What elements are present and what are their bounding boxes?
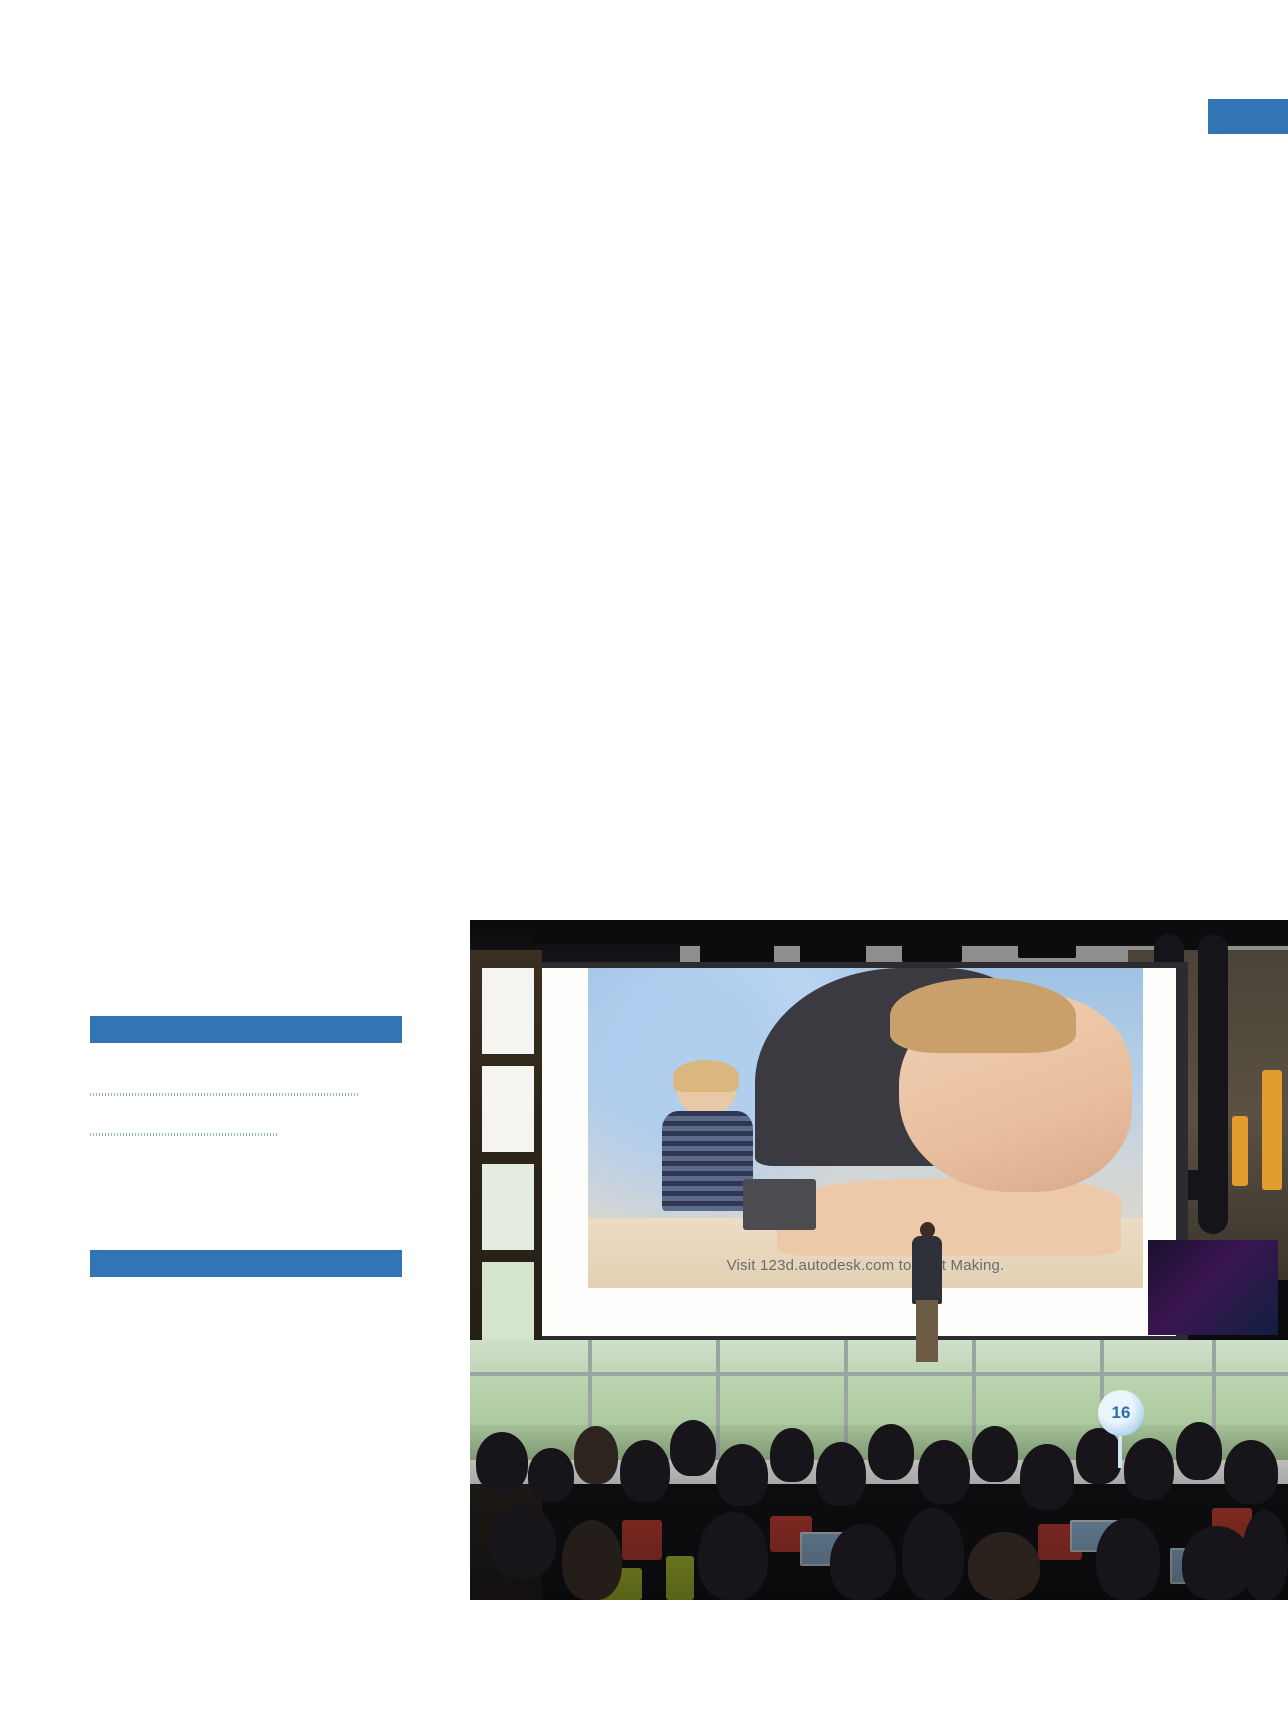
audience-head (968, 1532, 1040, 1600)
left-editorial-column (90, 1000, 402, 1300)
audience-head (670, 1420, 716, 1476)
window-pane (482, 1066, 534, 1152)
leader-line-1 (90, 1092, 360, 1097)
audience-head (620, 1440, 670, 1502)
audience-head (1242, 1510, 1288, 1600)
slide-child-striped-shirt (662, 1111, 753, 1211)
table-sign-stick (1118, 1434, 1122, 1468)
audience-head (918, 1440, 970, 1504)
audience-head (1176, 1422, 1222, 1480)
heading-bar-primary (90, 1016, 402, 1043)
document-page: Visit 123d.autodesk.com to start Making. (0, 0, 1288, 1733)
audience-head (902, 1508, 964, 1600)
audience-head (770, 1428, 814, 1482)
projected-slide: Visit 123d.autodesk.com to start Making. (588, 968, 1143, 1288)
table-number-badge: 16 (1098, 1390, 1144, 1436)
audience-head (716, 1444, 768, 1506)
window-pane (482, 968, 534, 1054)
leader-line-2 (90, 1132, 278, 1137)
presenter-body (912, 1236, 942, 1304)
audience-head (1224, 1440, 1278, 1504)
amber-light-spot (1232, 1116, 1248, 1186)
event-poster (1148, 1240, 1278, 1335)
window-transom (470, 1372, 1288, 1376)
slide-child-hair (673, 1060, 739, 1092)
audience-head (1124, 1438, 1174, 1500)
slide-caption-text: Visit 123d.autodesk.com to start Making. (588, 1257, 1143, 1274)
conference-keynote-photo: Visit 123d.autodesk.com to start Making. (470, 920, 1288, 1600)
audience-head (1076, 1428, 1122, 1484)
audience-head (698, 1512, 768, 1600)
heading-bar-secondary (90, 1250, 402, 1277)
slide-child-resting (899, 994, 1132, 1192)
window-pane (482, 1262, 534, 1348)
audience-head (490, 1506, 556, 1578)
audience-head (476, 1432, 528, 1492)
presenter-legs (916, 1300, 938, 1362)
audience-head (830, 1524, 896, 1600)
audience-head (574, 1426, 618, 1484)
audience-head (562, 1520, 622, 1600)
slide-device (743, 1179, 815, 1230)
presenter-figure (910, 1236, 944, 1362)
slide-child-hair (890, 978, 1076, 1053)
audience-head (868, 1424, 914, 1480)
window-pane (482, 1164, 534, 1250)
audience-head (1020, 1444, 1074, 1510)
slide-arm (777, 1179, 1121, 1256)
slide-child-standing (660, 1064, 754, 1211)
amber-light-strip (1262, 1070, 1282, 1190)
audience-head (972, 1426, 1018, 1482)
audience-head (816, 1442, 866, 1506)
audience-head (1096, 1518, 1160, 1600)
section-color-tab (1208, 99, 1288, 134)
audience-head (528, 1448, 574, 1502)
